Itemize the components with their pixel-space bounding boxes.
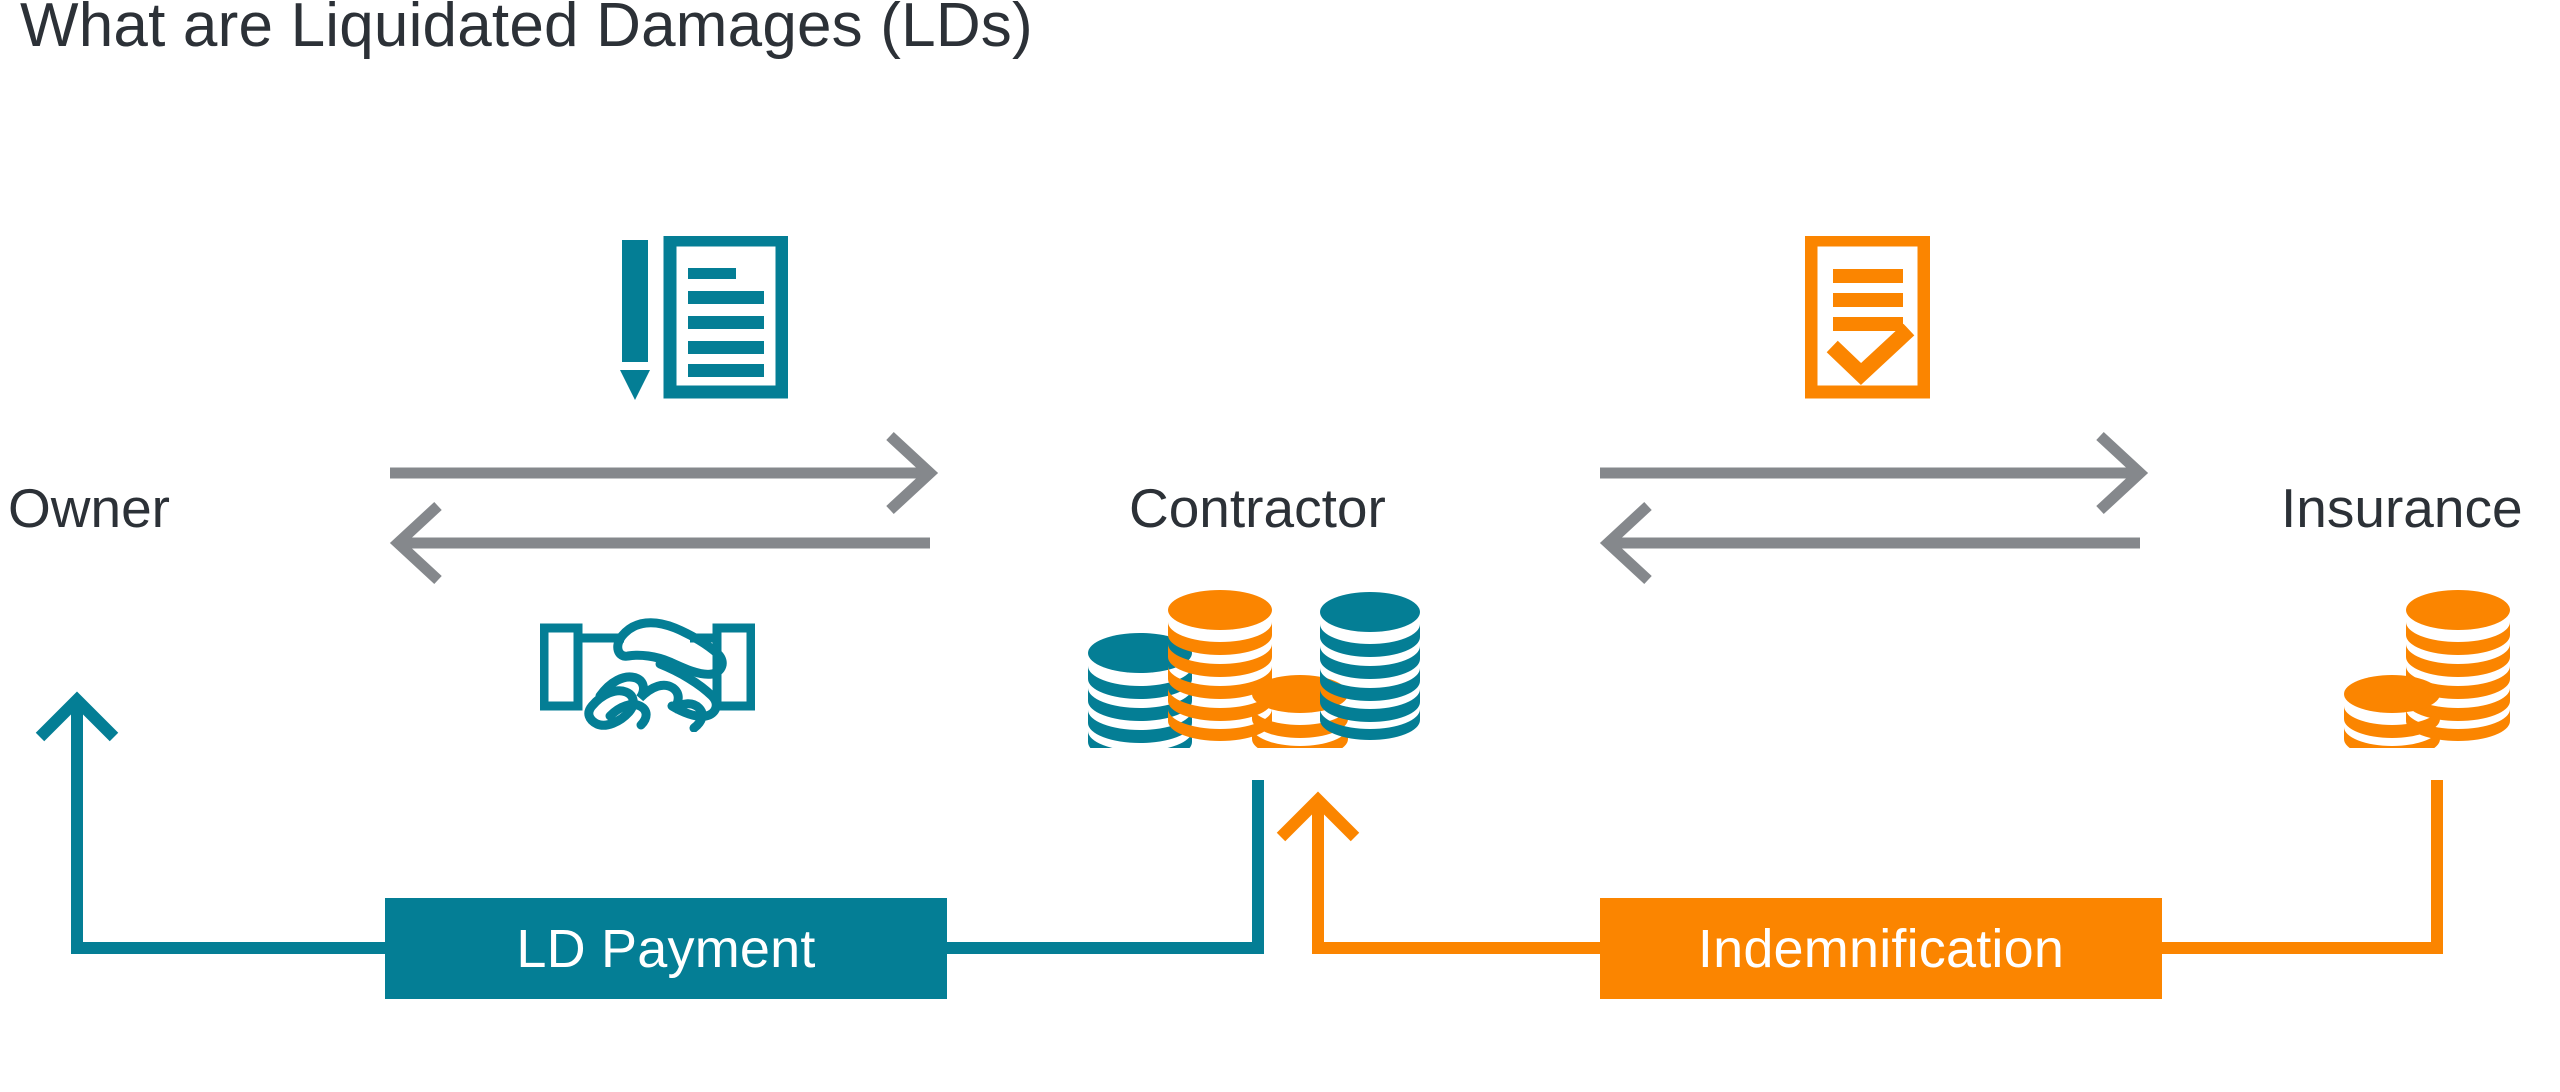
left-cuff-icon <box>544 628 578 706</box>
page-title: What are Liquidated Damages (LDs) <box>20 0 1033 60</box>
arrow-contractor-to-insurance <box>1600 436 2140 510</box>
pen-body-icon <box>622 240 648 362</box>
coin-stacks-icon <box>2340 588 2525 748</box>
diagram-canvas: What are Liquidated Damages (LDs) Owner … <box>0 0 2560 1092</box>
arrow-contractor-to-owner <box>398 506 930 580</box>
coin-stack-orange-tall <box>2406 590 2510 741</box>
contract-document-pen-icon <box>608 236 788 401</box>
coin-stacks-icon <box>1084 588 1424 748</box>
flow-label-text: Indemnification <box>1698 918 2064 980</box>
flow-label-indemnification[interactable]: Indemnification <box>1600 898 2162 999</box>
check-icon <box>1838 335 1903 374</box>
node-label-insurance: Insurance <box>2281 478 2523 539</box>
relationship-arrows-layer <box>0 0 2560 1092</box>
pen-tip-icon <box>620 370 650 400</box>
node-label-owner: Owner <box>8 478 170 539</box>
node-label-contractor: Contractor <box>1129 478 1386 539</box>
flow-label-text: LD Payment <box>516 918 815 980</box>
coin-stack-teal-right <box>1320 592 1420 740</box>
arrow-owner-to-contractor <box>390 436 930 510</box>
flow-label-ld-payment[interactable]: LD Payment <box>385 898 947 999</box>
arrow-insurance-to-contractor <box>1608 506 2140 580</box>
checklist-document-icon <box>1805 236 1930 401</box>
indemnification-flow-path <box>0 0 2560 1092</box>
handshake-icon <box>540 612 755 732</box>
ld-payment-flow-path <box>0 0 2560 1092</box>
